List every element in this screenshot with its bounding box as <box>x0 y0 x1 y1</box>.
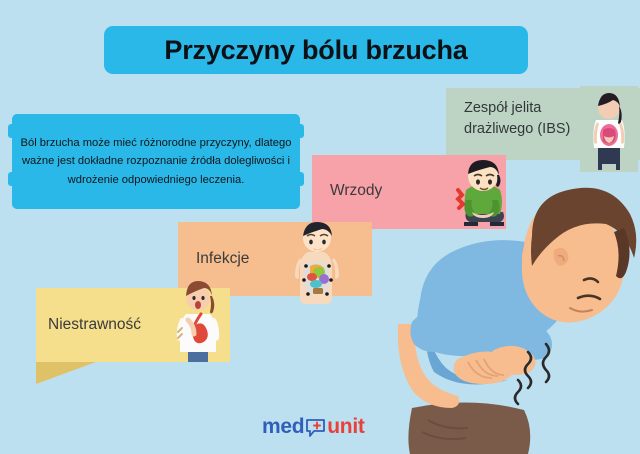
page-title-badge: Przyczyny bólu brzucha <box>104 26 528 74</box>
card-infections-label: Infekcje <box>196 250 249 268</box>
brand-logo[interactable]: med unit <box>262 414 365 440</box>
card-indigestion-fold-corner <box>36 362 96 384</box>
man-bent-over-abdominal-pain-icon <box>398 176 640 454</box>
logo-text-unit: unit <box>327 415 364 439</box>
card-indigestion-label: Niestrawność <box>48 316 141 334</box>
infographic-canvas: Przyczyny bólu brzucha Ból brzucha może … <box>0 0 640 454</box>
body-internal-organs-germs-icon <box>288 222 354 306</box>
woman-heartburn-stomach-icon <box>170 280 226 362</box>
card-ibs-label: Zespół jelita drażliwego (IBS) <box>464 98 584 139</box>
woman-holding-belly-intestines-icon <box>580 86 638 172</box>
logo-text-med: med <box>262 415 304 439</box>
intro-text: Ból brzucha może mieć różnorodne przyczy… <box>18 134 294 188</box>
speech-bubble-plus-icon <box>305 417 326 438</box>
card-ulcers-label: Wrzody <box>330 182 382 200</box>
page-title: Przyczyny bólu brzucha <box>164 35 467 66</box>
intro-text-bubble: Ból brzucha może mieć różnorodne przyczy… <box>12 114 300 209</box>
